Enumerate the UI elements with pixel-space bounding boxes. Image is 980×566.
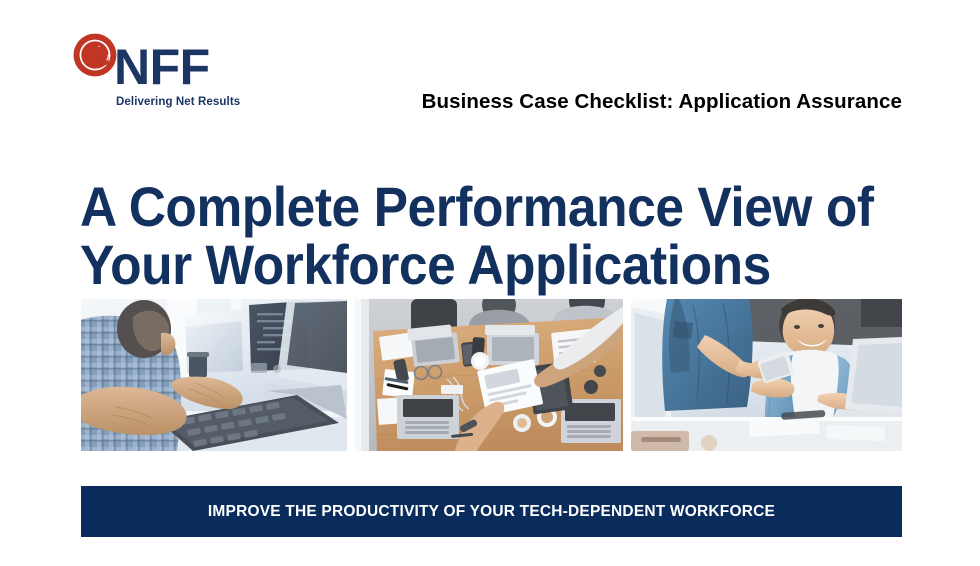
cta-banner-text: IMPROVE THE PRODUCTIVITY OF YOUR TECH-DE… <box>208 503 775 521</box>
nff-swirl-logo-icon <box>72 32 118 78</box>
photo-developer-typing-on-laptop <box>81 299 347 451</box>
headline-line-1: A Complete Performance View of <box>80 178 844 236</box>
kicker-text: Business Case Checklist: Application Ass… <box>422 90 902 114</box>
photo-strip <box>81 299 902 451</box>
cover-page: NFF Delivering Net Results Business Case… <box>0 0 980 566</box>
cta-banner: IMPROVE THE PRODUCTIVITY OF YOUR TECH-DE… <box>81 486 902 537</box>
logo-tagline: Delivering Net Results <box>116 96 240 108</box>
photo-colleagues-reviewing-smartphone <box>631 299 902 451</box>
brand-logo[interactable]: NFF Delivering Net Results <box>72 28 302 123</box>
logo-wordmark: NFF <box>114 42 210 92</box>
headline-line-2: Your Workforce Applications <box>80 236 844 294</box>
photo-team-meeting-overhead-desk <box>355 299 623 451</box>
page-title: A Complete Performance View of Your Work… <box>80 178 844 294</box>
